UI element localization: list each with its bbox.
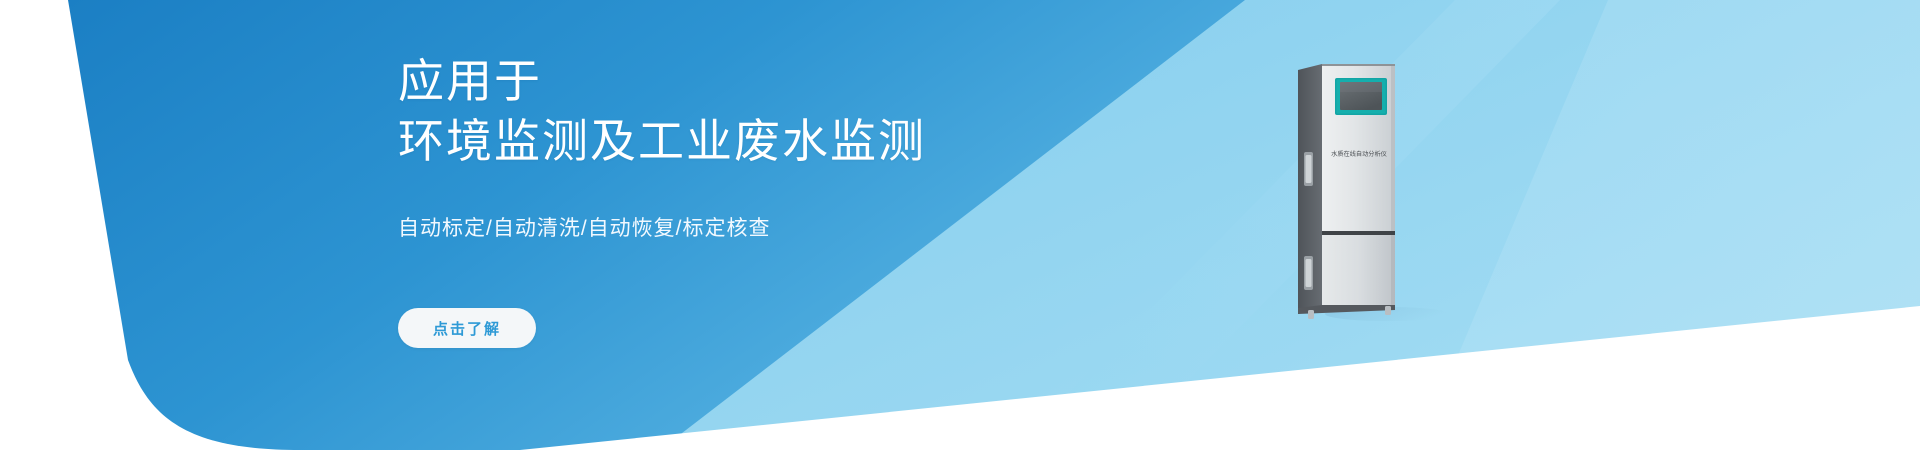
caster-left — [1308, 310, 1314, 319]
hero-banner: 应用于 环境监测及工业废水监测 自动标定/自动清洗/自动恢复/标定核查 点击了解 — [0, 0, 1920, 450]
headline: 应用于 环境监测及工业废水监测 — [398, 52, 1158, 172]
panel-label-text: 水质在线自动分析仪 — [1331, 150, 1387, 158]
cabinet-lower-door — [1322, 235, 1395, 305]
caster-right — [1385, 306, 1391, 315]
learn-more-button[interactable]: 点击了解 — [398, 308, 536, 348]
analyzer-cabinet-icon: 水质在线自动分析仪 — [1292, 60, 1452, 325]
cabinet-divider — [1322, 231, 1395, 235]
subheadline: 自动标定/自动清洗/自动恢复/标定核查 — [398, 172, 1158, 242]
copy-block: 应用于 环境监测及工业废水监测 自动标定/自动清洗/自动恢复/标定核查 — [398, 52, 1158, 242]
product-image: 水质在线自动分析仪 — [1292, 60, 1452, 325]
